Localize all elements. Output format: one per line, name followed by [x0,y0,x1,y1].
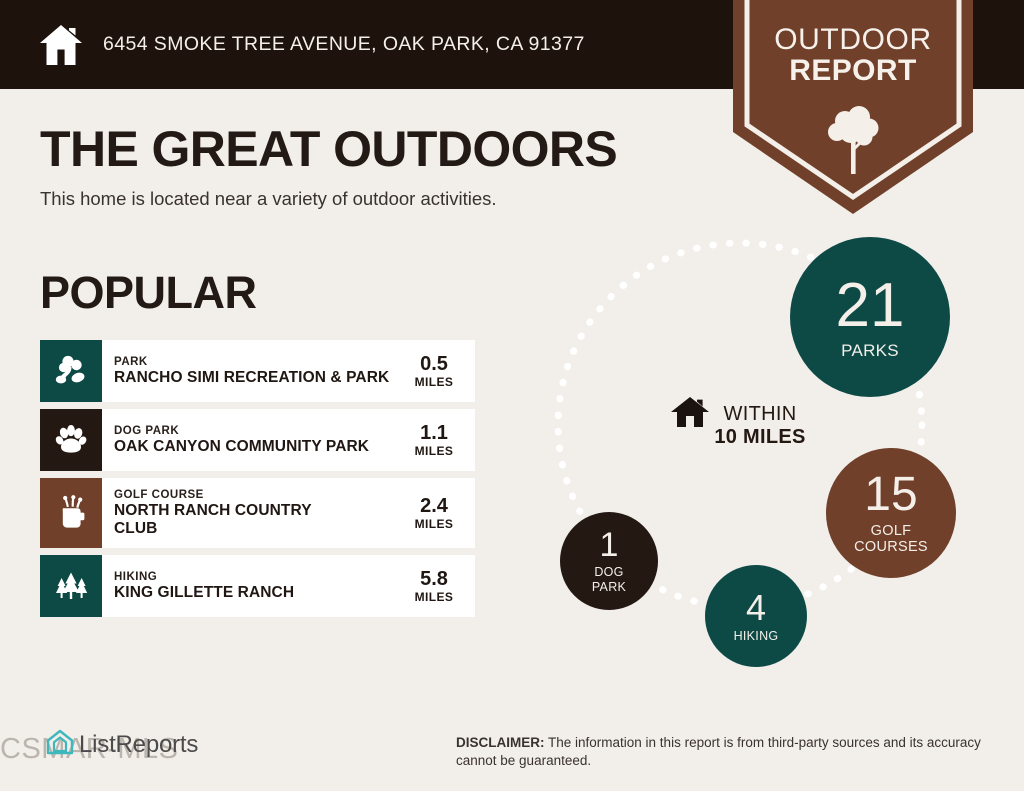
property-address: 6454 SMOKE TREE AVENUE, OAK PARK, CA 913… [103,33,585,56]
bubble-dog-value: 1 [600,528,619,562]
list-item-distance-value: 0.5 [407,354,461,375]
list-item-distance-value: 5.8 [407,569,461,590]
disclaimer-label: DISCLAIMER: [456,735,545,750]
list-item-distance: 2.4 MILES [407,496,467,531]
list-item-name: NORTH RANCH COUNTRY CLUB [114,502,329,539]
house-icon [38,22,84,68]
park-icon [54,354,88,388]
list-item-distance-value: 1.1 [407,423,461,444]
bubble-dog-label-line1: DOG [594,565,623,579]
list-item-names: HIKING KING GILLETTE RANCH [114,570,401,603]
chart-center-label: WITHIN 10 MILES [670,395,850,449]
list-item-category: PARK [114,355,401,369]
list-item-icon-tile [40,478,102,548]
list-item-names: GOLF COURSE NORTH RANCH COUNTRY CLUB [114,488,401,539]
list-item-name: OAK CANYON COMMUNITY PARK [114,438,401,456]
list-item-names: PARK RANCHO SIMI RECREATION & PARK [114,355,401,388]
bubble-hiking-value: 4 [746,590,766,626]
pine-trees-icon [53,569,89,603]
center-label-line2: 10 MILES [670,426,850,449]
list-item-distance-unit: MILES [407,517,461,531]
bubble-dog-label-line2: PARK [592,580,626,594]
list-item[interactable]: DOG PARK OAK CANYON COMMUNITY PARK 1.1 M… [40,409,475,471]
list-item[interactable]: GOLF COURSE NORTH RANCH COUNTRY CLUB 2.4… [40,478,475,548]
page-title: THE GREAT OUTDOORS [40,124,617,174]
bubble-golf-value: 15 [864,471,917,519]
page-subtitle: This home is located near a variety of o… [40,188,497,210]
list-item-name: KING GILLETTE RANCH [114,584,401,602]
popular-list: PARK RANCHO SIMI RECREATION & PARK 0.5 M… [40,340,475,624]
list-item-category: HIKING [114,570,401,584]
list-item[interactable]: PARK RANCHO SIMI RECREATION & PARK 0.5 M… [40,340,475,402]
house-outline-icon [45,727,75,762]
within-10-miles-chart: 21 PARKS 15 GOLF COURSES 1 DOG PARK 4 HI… [530,225,1000,685]
golf-bag-icon [54,495,88,531]
bubble-hiking[interactable]: 4 HIKING [705,565,807,667]
bubble-parks-value: 21 [836,275,905,337]
list-item-distance: 1.1 MILES [407,423,467,458]
list-item-icon-tile [40,409,102,471]
list-item-body: DOG PARK OAK CANYON COMMUNITY PARK 1.1 M… [102,409,475,471]
bubble-parks[interactable]: 21 PARKS [790,237,950,397]
popular-heading: POPULAR [40,270,257,315]
list-item-icon-tile [40,340,102,402]
list-item-distance-unit: MILES [407,375,461,389]
list-item-distance-unit: MILES [407,590,461,604]
tree-icon [826,104,880,174]
list-item-distance: 5.8 MILES [407,569,467,604]
list-item-body: GOLF COURSE NORTH RANCH COUNTRY CLUB 2.4… [102,478,475,548]
list-item-distance-value: 2.4 [407,496,461,517]
outdoor-report-page: 6454 SMOKE TREE AVENUE, OAK PARK, CA 913… [0,0,1024,791]
list-item-name: RANCHO SIMI RECREATION & PARK [114,369,401,387]
paw-icon [54,423,88,457]
bubble-hiking-label: HIKING [734,630,779,643]
list-item-body: HIKING KING GILLETTE RANCH 5.8 MILES [102,555,475,617]
list-item-category: DOG PARK [114,424,401,438]
bubble-dog-park[interactable]: 1 DOG PARK [560,512,658,610]
list-item-category: GOLF COURSE [114,488,401,502]
list-item-distance: 0.5 MILES [407,354,467,389]
bubble-golf-courses[interactable]: 15 GOLF COURSES [826,448,956,578]
disclaimer: DISCLAIMER: The information in this repo… [456,734,991,770]
bubble-golf-label-line1: GOLF [871,523,912,539]
list-item-body: PARK RANCHO SIMI RECREATION & PARK 0.5 M… [102,340,475,402]
list-item-icon-tile [40,555,102,617]
bubble-golf-label-line2: COURSES [854,539,928,555]
listreports-logo[interactable]: ListReports [45,727,198,762]
listreports-logo-text: ListReports [79,731,198,759]
list-item-distance-unit: MILES [407,444,461,458]
bubble-parks-label: PARKS [841,342,899,359]
list-item-names: DOG PARK OAK CANYON COMMUNITY PARK [114,424,401,457]
list-item[interactable]: HIKING KING GILLETTE RANCH 5.8 MILES [40,555,475,617]
